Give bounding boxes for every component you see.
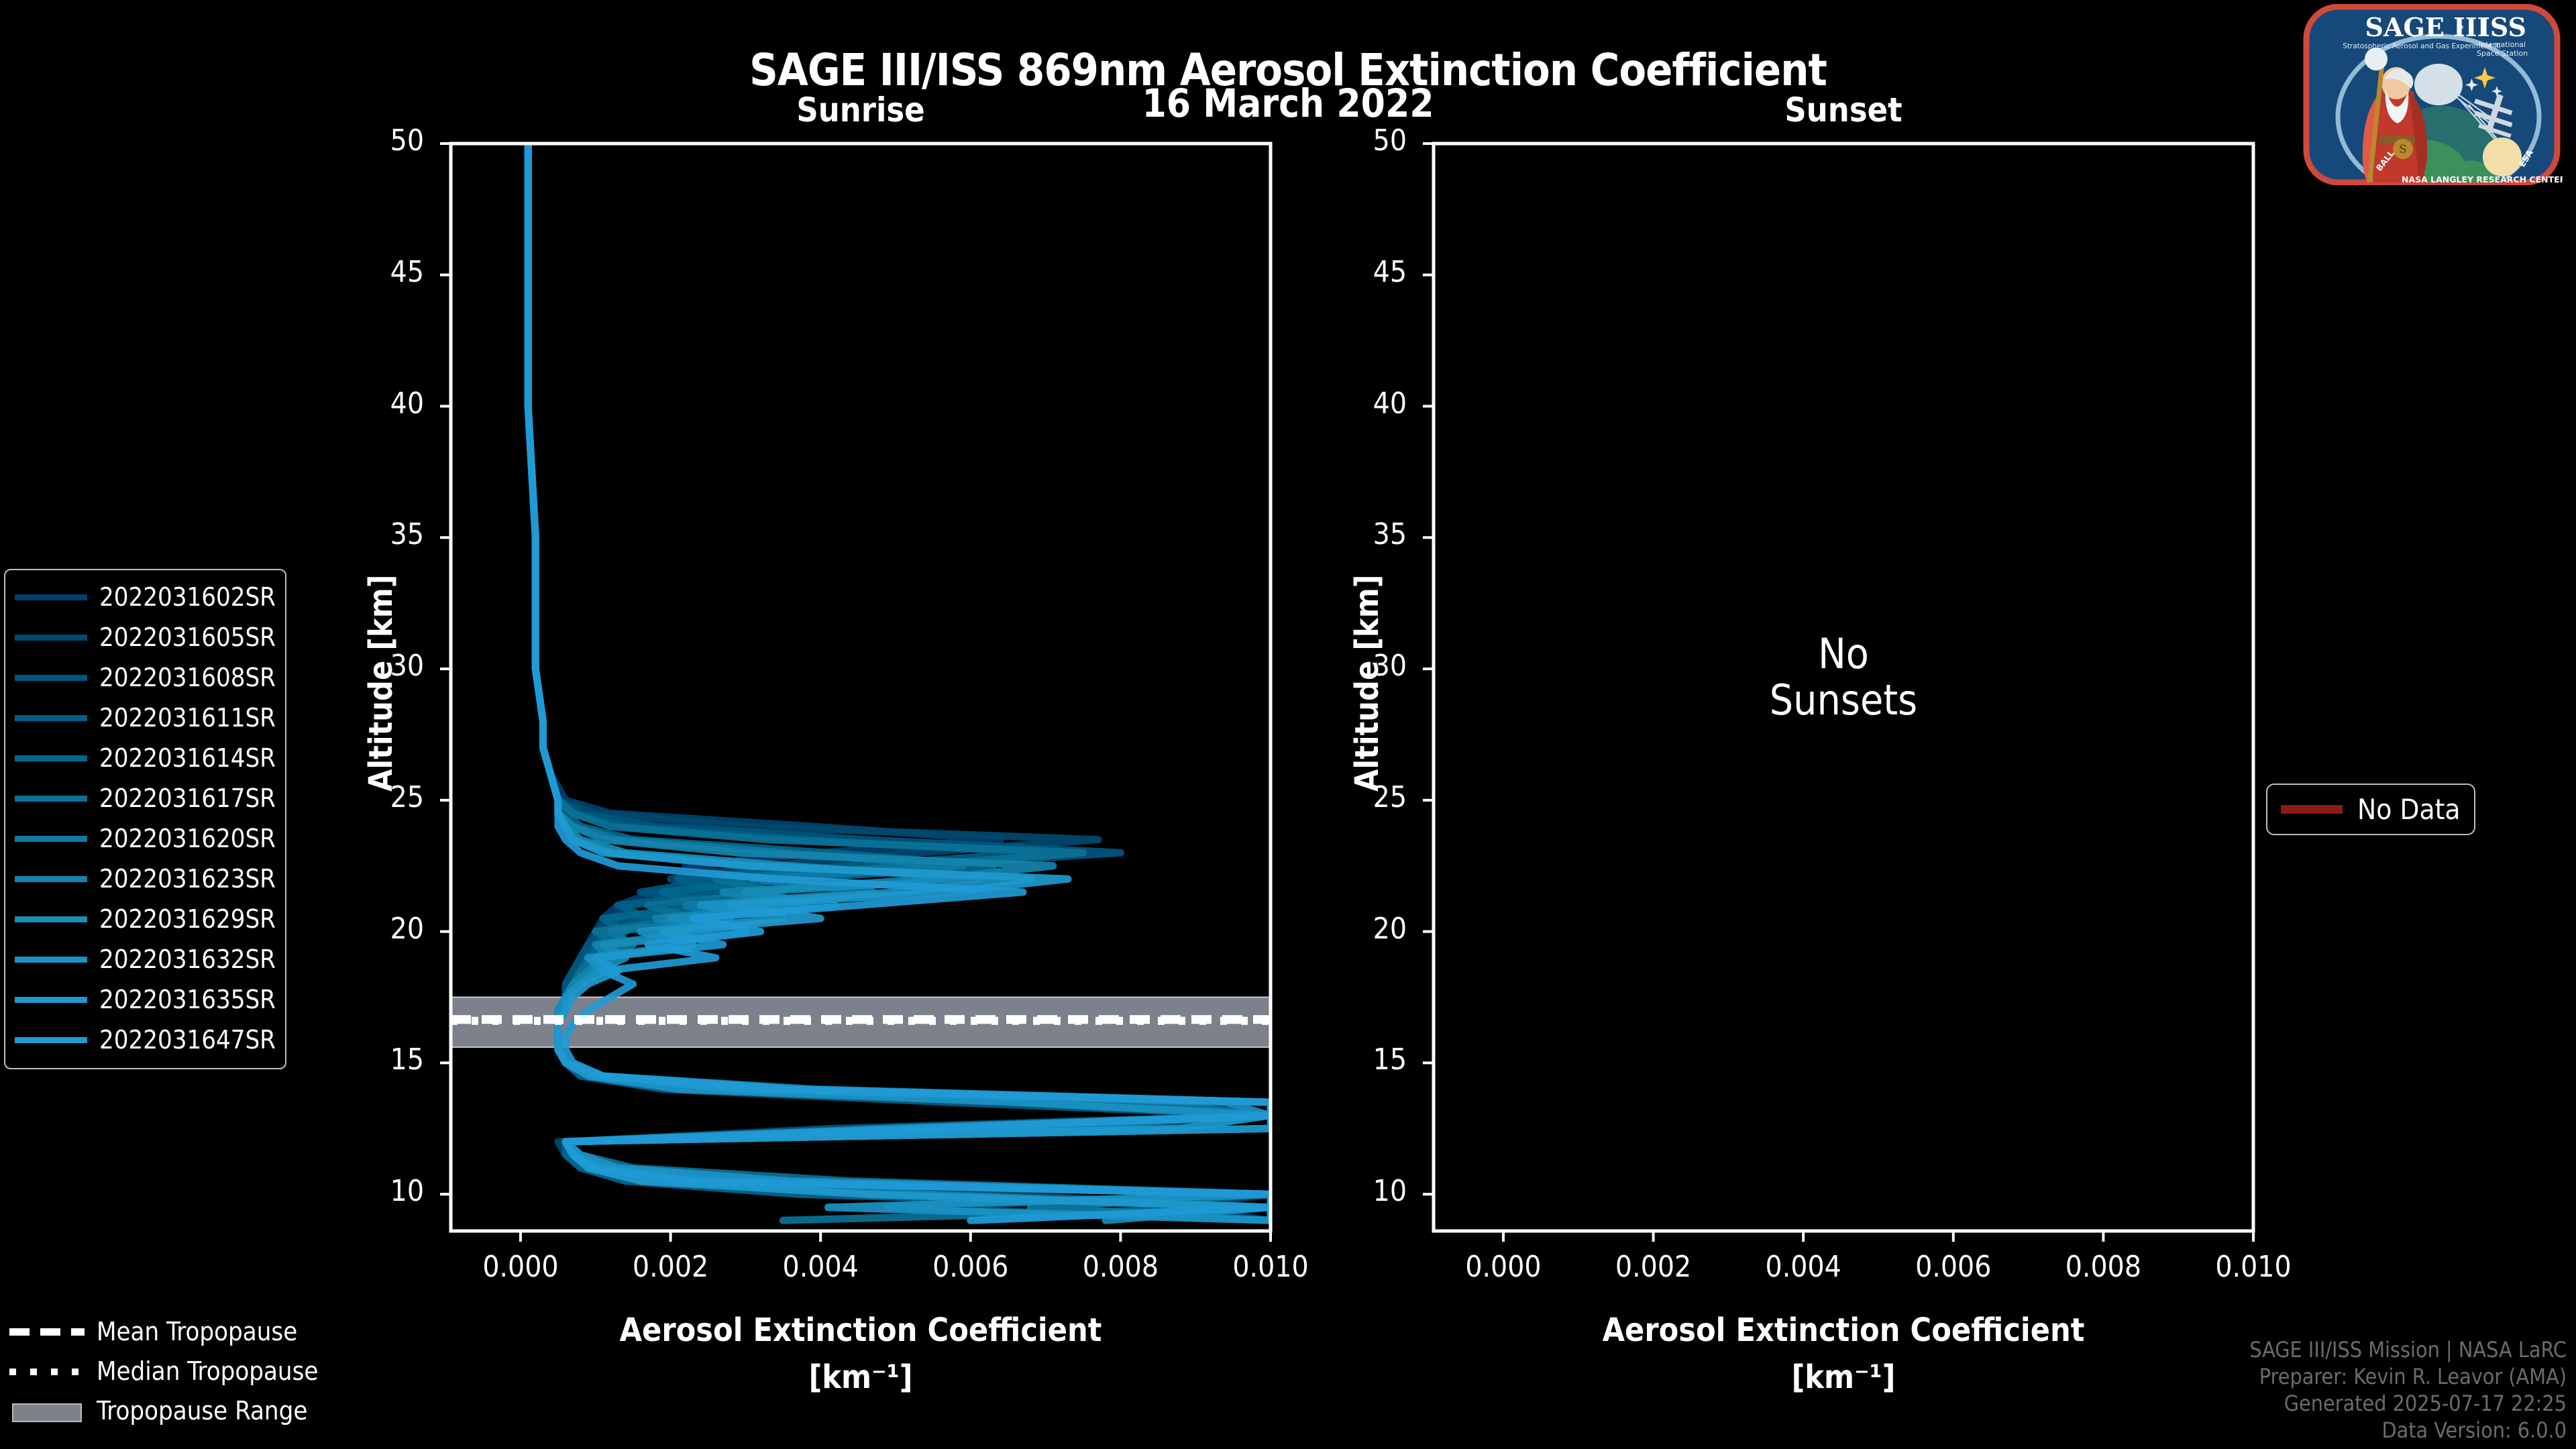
series-color-swatch [15,594,87,600]
y-tick-label: 40 [1333,386,1407,421]
series-legend-label: 2022031629SR [99,904,276,934]
series-legend-label: 2022031632SR [99,945,276,974]
x-tick-label: 0.000 [1416,1250,1591,1284]
series-legend-item[interactable]: 2022031617SR [15,778,276,818]
series-color-swatch [15,876,87,882]
tropopause-legend-label: Tropopause Range [97,1396,307,1426]
series-line [528,144,1271,1220]
series-color-swatch [15,1037,87,1043]
svg-text:SAGE III: SAGE III [2365,12,2489,42]
y-tick-label: 35 [350,517,424,551]
tropopause-legend-label: Mean Tropopause [97,1317,297,1346]
no-data-legend[interactable]: No Data [2266,784,2475,835]
series-legend-item[interactable]: 2022031647SR [15,1020,276,1060]
series-color-swatch [15,796,87,802]
series-legend-item[interactable]: 2022031635SR [15,979,276,1020]
series-legend-label: 2022031635SR [99,985,276,1014]
svg-text:ISS: ISS [2478,12,2526,42]
sage-iii-iss-logo: S . SAGE III · ISS Stratospheric Aerosol… [2301,4,2563,185]
tropopause-legend-item: Tropopause Range [9,1391,318,1430]
y-tick-label: 10 [1333,1174,1407,1208]
series-legend-label: 2022031647SR [99,1025,276,1055]
y-tick-label: 10 [350,1174,424,1208]
series-line [528,144,1271,1220]
series-legend-item[interactable]: 2022031620SR [15,818,276,859]
series-color-swatch [15,675,87,681]
tropopause-legend-label: Median Tropopause [97,1356,318,1386]
y-tick-label: 15 [1333,1042,1407,1077]
marker-glyph [9,1328,85,1336]
credits-line: SAGE III/ISS Mission | NASA LaRC [2249,1336,2567,1363]
series-line [528,144,1271,1220]
series-color-swatch [15,997,87,1003]
no-sunsets-line2: Sunsets [1434,677,2253,723]
panel-sunrise [440,144,1271,1242]
x-axis-label-right: Aerosol Extinction Coefficient [1434,1311,2253,1349]
series-legend-item[interactable]: 2022031602SR [15,577,276,617]
svg-text:S: S [2399,143,2407,156]
y-tick-label: 20 [350,912,424,946]
series-color-swatch [15,715,87,721]
y-tick-label: 50 [350,123,424,158]
y-tick-label: 35 [1333,517,1407,551]
figure-canvas: SAGE III/ISS 869nm Aerosol Extinction Co… [0,0,2576,1449]
series-legend-item[interactable]: 2022031629SR [15,899,276,939]
series-line [528,144,1271,1220]
series-legend-label: 2022031608SR [99,663,276,692]
x-tick-label: 0.006 [883,1250,1058,1284]
x-tick-label: 0.000 [433,1250,608,1284]
series-line [528,144,1271,1220]
no-data-line-swatch [2281,805,2343,814]
x-tick-label: 0.002 [1566,1250,1741,1284]
series-legend-label: 2022031611SR [99,703,276,733]
credits-block: SAGE III/ISS Mission | NASA LaRCPreparer… [2249,1336,2567,1444]
svg-text:·: · [2456,12,2465,42]
series-legend[interactable]: 2022031602SR2022031605SR2022031608SR2022… [4,569,286,1069]
x-tick-label: 0.004 [733,1250,908,1284]
y-tick-label: 15 [350,1042,424,1077]
series-legend-label: 2022031614SR [99,743,276,773]
tropopause-legend-item: Median Tropopause [9,1351,318,1391]
x-axis-label-left: Aerosol Extinction Coefficient [451,1311,1271,1349]
x-tick-label: 0.010 [2166,1250,2341,1284]
no-data-legend-label: No Data [2357,793,2461,826]
series-legend-label: 2022031617SR [99,784,276,813]
x-tick-label: 0.008 [2016,1250,2190,1284]
series-legend-label: 2022031605SR [99,623,276,652]
series-line [528,144,1271,1220]
series-legend-item[interactable]: 2022031614SR [15,738,276,778]
x-tick-label: 0.006 [1866,1250,2041,1284]
svg-text:Space Station: Space Station [2477,49,2528,58]
tropopause-legend-item: Mean Tropopause [9,1311,318,1351]
series-legend-label: 2022031620SR [99,824,276,853]
series-line [528,144,1271,1220]
series-line [528,144,1271,1220]
series-line [528,144,1271,1220]
series-line [528,144,1271,1220]
y-axis-label-right: Altitude [km] [1348,575,1386,792]
series-legend-label: 2022031602SR [99,582,276,612]
marker-glyph [9,1368,85,1375]
series-legend-item[interactable]: 2022031623SR [15,859,276,899]
tropopause-legend: Mean TropopauseMedian TropopauseTropopau… [9,1311,318,1430]
series-legend-item[interactable]: 2022031608SR [15,657,276,698]
y-tick-label: 50 [1333,123,1407,158]
x-tick-label: 0.008 [1033,1250,1207,1284]
tropopause-legend-marker [9,1362,85,1380]
x-tick-label: 0.010 [1183,1250,1358,1284]
credits-line: Generated 2025-07-17 22:25 [2249,1390,2567,1417]
y-tick-label: 20 [1333,912,1407,946]
series-color-swatch [15,957,87,963]
series-color-swatch [15,755,87,761]
y-axis-label-left: Altitude [km] [362,575,400,792]
y-tick-label: 40 [350,386,424,421]
series-legend-label: 2022031623SR [99,864,276,894]
series-color-swatch [15,635,87,641]
series-legend-item[interactable]: 2022031605SR [15,617,276,657]
series-color-swatch [15,836,87,842]
y-tick-label: 45 [1333,255,1407,289]
credits-line: Data Version: 6.0.0 [2249,1417,2567,1444]
series-legend-item[interactable]: 2022031611SR [15,698,276,738]
credits-line: Preparer: Kevin R. Leavor (AMA) [2249,1363,2567,1390]
no-sunsets-message: No Sunsets [1434,631,2253,724]
series-line [528,144,1271,1220]
svg-text:International: International [2479,40,2526,49]
x-axis-unit-left: [km⁻¹] [451,1358,1271,1396]
x-tick-label: 0.002 [584,1250,758,1284]
series-legend-item[interactable]: 2022031632SR [15,939,276,979]
marker-glyph [12,1403,82,1422]
no-sunsets-line1: No [1434,631,2253,677]
y-tick-label: 45 [350,255,424,289]
x-tick-label: 0.004 [1716,1250,1890,1284]
x-axis-unit-right: [km⁻¹] [1434,1358,2253,1396]
svg-text:NASA LANGLEY RESEARCH CENTER: NASA LANGLEY RESEARCH CENTER [2402,174,2563,184]
tropopause-legend-marker [9,1323,85,1340]
series-color-swatch [15,916,87,922]
series-line [528,144,1271,1220]
tropopause-legend-marker [9,1402,85,1419]
